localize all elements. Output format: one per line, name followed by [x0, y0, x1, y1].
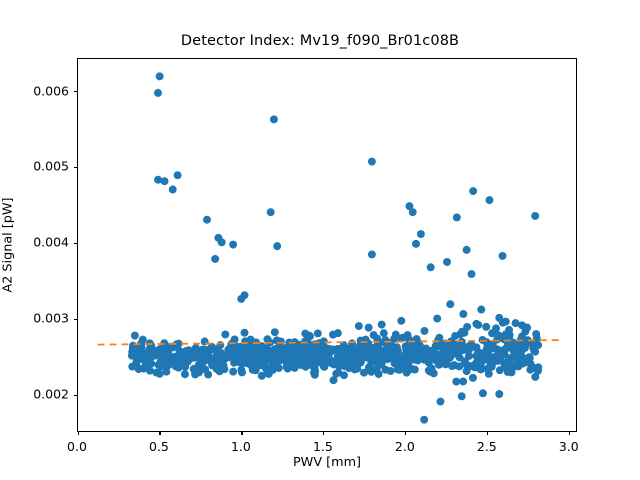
- scatter-point: [459, 378, 467, 386]
- x-axis-label: PWV [mm]: [293, 455, 361, 470]
- scatter-point: [306, 332, 314, 340]
- scatter-point: [482, 323, 490, 331]
- scatter-point: [298, 351, 306, 359]
- scatter-point: [430, 352, 438, 360]
- scatter-point: [534, 363, 542, 371]
- scatter-point: [368, 250, 376, 258]
- scatter-point: [312, 346, 320, 354]
- scatter-point: [409, 347, 417, 355]
- scatter-point: [314, 329, 322, 337]
- scatter-point: [461, 357, 469, 365]
- scatter-point: [441, 342, 449, 350]
- x-tick-mark: [487, 431, 488, 435]
- scatter-point: [241, 329, 249, 337]
- x-tick-label: 1.5: [313, 439, 333, 454]
- scatter-point: [304, 358, 312, 366]
- x-tick-mark: [78, 431, 79, 435]
- x-tick-label: 0.0: [67, 439, 87, 454]
- x-tick-label: 2.0: [395, 439, 415, 454]
- scatter-point: [469, 374, 477, 382]
- scatter-point: [377, 360, 385, 368]
- scatter-point: [204, 371, 212, 379]
- scatter-point: [154, 89, 162, 97]
- scatter-point: [174, 171, 182, 179]
- scatter-point: [388, 354, 396, 362]
- scatter-point: [207, 359, 215, 367]
- scatter-point: [433, 315, 441, 323]
- scatter-point: [273, 350, 281, 358]
- scatter-point: [144, 362, 152, 370]
- scatter-point: [164, 353, 172, 361]
- scatter-point: [428, 364, 436, 372]
- scatter-point: [218, 238, 226, 246]
- scatter-point: [261, 358, 269, 366]
- scatter-point: [367, 368, 375, 376]
- scatter-point: [472, 320, 480, 328]
- x-tick-label: 3.0: [559, 439, 579, 454]
- x-tick-mark: [323, 431, 324, 435]
- scatter-point: [156, 345, 164, 353]
- scatter-point: [273, 242, 281, 250]
- x-tick-mark: [569, 431, 570, 435]
- scatter-point: [421, 350, 429, 358]
- scatter-point: [305, 340, 313, 348]
- scatter-point: [350, 355, 358, 363]
- y-tick-label: 0.006: [33, 83, 69, 98]
- y-tick-mark: [74, 319, 78, 320]
- scatter-point: [375, 346, 383, 354]
- scatter-point: [360, 369, 368, 377]
- scatter-point: [381, 336, 389, 344]
- scatter-point: [396, 355, 404, 363]
- scatter-point: [365, 324, 373, 332]
- page-title: Detector Index: Mv19_f090_Br01c08B: [0, 33, 640, 49]
- scatter-point: [348, 343, 356, 351]
- scatter-point: [463, 246, 471, 254]
- scatter-point: [483, 365, 491, 373]
- scatter-point: [521, 327, 529, 335]
- x-tick-label: 2.5: [477, 439, 497, 454]
- scatter-point: [446, 300, 454, 308]
- scatter-point: [271, 328, 279, 336]
- scatter-point: [169, 186, 177, 194]
- scatter-point: [459, 310, 467, 318]
- scatter-point: [452, 378, 460, 386]
- scatter-point: [131, 332, 139, 340]
- scatter-point: [239, 348, 247, 356]
- y-axis-label: A2 Signal [pW]: [1, 197, 16, 292]
- scatter-point: [332, 370, 340, 378]
- scatter-point: [284, 365, 292, 373]
- x-tick-label: 1.0: [231, 439, 251, 454]
- y-tick-label: 0.005: [33, 159, 69, 174]
- scatter-point: [427, 263, 435, 271]
- scatter-point: [229, 368, 237, 376]
- scatter-point: [481, 350, 489, 358]
- y-tick-label: 0.004: [33, 235, 69, 250]
- x-tick-mark: [405, 431, 406, 435]
- scatter-point: [337, 346, 345, 354]
- scatter-point: [221, 330, 229, 338]
- scatter-point: [378, 321, 386, 329]
- scatter-point: [492, 324, 500, 332]
- scatter-point: [505, 326, 513, 334]
- scatter-point: [237, 295, 245, 303]
- scatter-point: [230, 359, 238, 367]
- scatter-point: [499, 252, 507, 260]
- scatter-point: [420, 327, 428, 335]
- scatter-point: [448, 362, 456, 370]
- scatter-point: [367, 358, 375, 366]
- scatter-point: [183, 356, 191, 364]
- scatter-point: [389, 346, 397, 354]
- scatter-point: [151, 352, 159, 360]
- scatter-point: [181, 370, 189, 378]
- scatter-point: [290, 358, 298, 366]
- scatter-point: [477, 306, 485, 314]
- plot-area: [77, 58, 577, 432]
- scatter-point: [409, 208, 417, 216]
- scatter-point: [196, 354, 204, 362]
- scatter-point: [502, 344, 510, 352]
- scatter-point: [219, 361, 227, 369]
- scatter-point: [228, 352, 236, 360]
- scatter-point: [531, 373, 539, 381]
- scatter-point: [519, 338, 527, 346]
- scatter-point: [436, 398, 444, 406]
- scatter-point: [315, 356, 323, 364]
- scatter-point: [155, 361, 163, 369]
- scatter-point: [135, 365, 143, 373]
- scatter-point: [420, 416, 428, 424]
- scatter-point: [531, 348, 539, 356]
- scatter-point: [519, 360, 527, 368]
- scatter-point: [504, 357, 512, 365]
- figure-canvas: Detector Index: Mv19_f090_Br01c08B A2 Si…: [0, 0, 640, 480]
- scatter-point: [190, 348, 198, 356]
- scatter-point: [368, 158, 376, 166]
- scatter-point: [502, 318, 510, 326]
- scatter-point: [270, 115, 278, 123]
- scatter-point: [532, 330, 540, 338]
- x-tick-label: 0.5: [149, 439, 169, 454]
- scatter-point: [199, 346, 207, 354]
- scatter-point: [396, 366, 404, 374]
- y-tick-mark: [74, 91, 78, 92]
- scatter-point: [213, 365, 221, 373]
- scatter-point: [493, 336, 501, 344]
- scatter-point: [161, 177, 169, 185]
- scatter-point: [485, 196, 493, 204]
- scatter-point: [133, 356, 141, 364]
- scatter-point: [156, 370, 164, 378]
- scatter-point: [472, 344, 480, 352]
- scatter-point: [434, 336, 442, 344]
- scatter-point: [355, 322, 363, 330]
- scatter-point: [397, 317, 405, 325]
- scatter-point: [463, 323, 471, 331]
- scatter-point: [458, 392, 466, 400]
- scatter-point: [345, 364, 353, 372]
- scatter-point: [510, 346, 518, 354]
- scatter-point: [329, 331, 337, 339]
- scatter-point: [469, 187, 477, 195]
- y-tick-mark: [74, 167, 78, 168]
- scatter-point: [465, 346, 473, 354]
- scatter-svg: [78, 59, 576, 431]
- scatter-point: [357, 337, 365, 345]
- scatter-point: [402, 346, 410, 354]
- scatter-point: [380, 329, 388, 337]
- scatter-point: [412, 240, 420, 248]
- y-tick-label: 0.003: [33, 311, 69, 326]
- scatter-data-layer: [78, 59, 576, 431]
- scatter-point: [404, 359, 412, 367]
- scatter-point: [147, 342, 155, 350]
- x-tick-mark: [241, 431, 242, 435]
- scatter-point: [443, 258, 451, 266]
- scatter-point: [247, 361, 255, 369]
- scatter-point: [490, 357, 498, 365]
- scatter-point: [194, 364, 202, 372]
- scatter-point: [468, 270, 476, 278]
- y-tick-mark: [74, 243, 78, 244]
- scatter-point: [267, 208, 275, 216]
- scatter-point: [249, 353, 257, 361]
- scatter-point: [369, 344, 377, 352]
- scatter-point: [339, 355, 347, 363]
- scatter-point: [237, 366, 245, 374]
- scatter-point: [265, 351, 273, 359]
- scatter-point: [445, 354, 453, 362]
- scatter-point: [417, 230, 425, 238]
- scatter-point: [162, 368, 170, 376]
- scatter-point: [229, 241, 237, 249]
- y-tick-mark: [74, 395, 78, 396]
- scatter-point: [203, 216, 211, 224]
- scatter-point: [269, 366, 277, 374]
- y-tick-label: 0.002: [33, 387, 69, 402]
- scatter-point: [451, 332, 459, 340]
- scatter-point: [387, 367, 395, 375]
- scatter-point: [282, 347, 290, 355]
- scatter-point: [211, 255, 219, 263]
- scatter-point: [495, 390, 503, 398]
- x-tick-mark: [159, 431, 160, 435]
- scatter-point: [479, 389, 487, 397]
- scatter-point: [156, 72, 164, 80]
- scatter-point: [453, 213, 461, 221]
- scatter-point: [320, 362, 328, 370]
- scatter-point: [176, 358, 184, 366]
- scatter-point: [411, 366, 419, 374]
- scatter-point: [310, 369, 318, 377]
- scatter-point: [435, 361, 443, 369]
- scatter-point: [531, 212, 539, 220]
- scatter-point: [353, 365, 361, 373]
